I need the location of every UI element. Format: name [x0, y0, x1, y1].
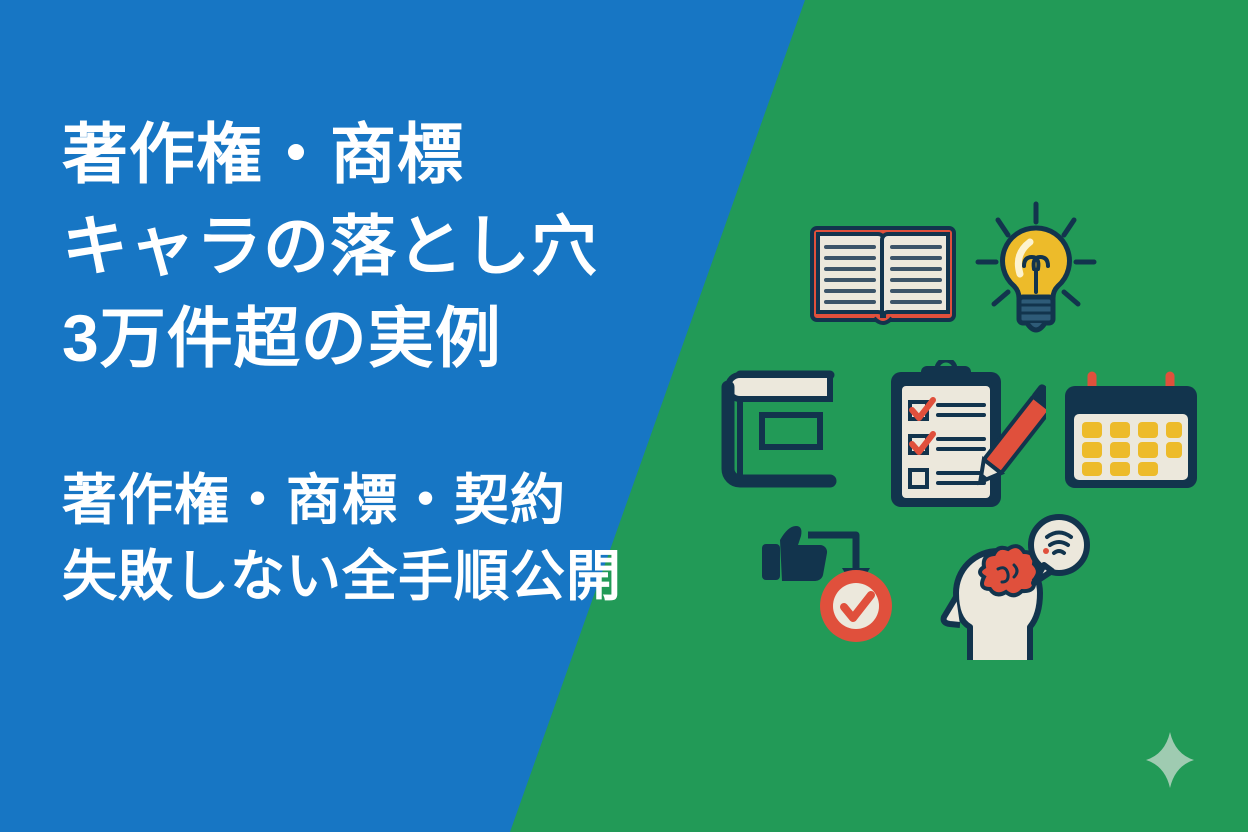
headline-line-2: キャラの落とし穴 — [62, 200, 722, 292]
subheadline-line-2: 失敗しない全手順公開 — [62, 538, 722, 614]
headline-block: 著作権・商標 キャラの落とし穴 3万件超の実例 — [62, 108, 722, 384]
open-book-icon — [808, 220, 958, 335]
illustration-group — [690, 180, 1210, 660]
headline-line-1: 著作権・商標 — [62, 108, 722, 200]
subheadline-line-1: 著作権・商標・契約 — [62, 462, 722, 538]
brain-head-icon — [940, 505, 1090, 660]
thumbnail-canvas: 著作権・商標 キャラの落とし穴 3万件超の実例 著作権・商標・契約 失敗しない全… — [0, 0, 1248, 832]
clipboard-checklist-icon — [886, 360, 1046, 510]
calendar-icon — [1060, 370, 1202, 495]
thumbs-up-approval-icon — [760, 510, 895, 645]
lightbulb-icon — [972, 200, 1100, 350]
sparkle-icon — [1144, 730, 1196, 790]
headline-line-3: 3万件超の実例 — [62, 292, 722, 384]
closed-book-icon — [718, 365, 838, 490]
subheadline-block: 著作権・商標・契約 失敗しない全手順公開 — [62, 462, 722, 614]
text-column: 著作権・商標 キャラの落とし穴 3万件超の実例 著作権・商標・契約 失敗しない全… — [62, 108, 722, 614]
